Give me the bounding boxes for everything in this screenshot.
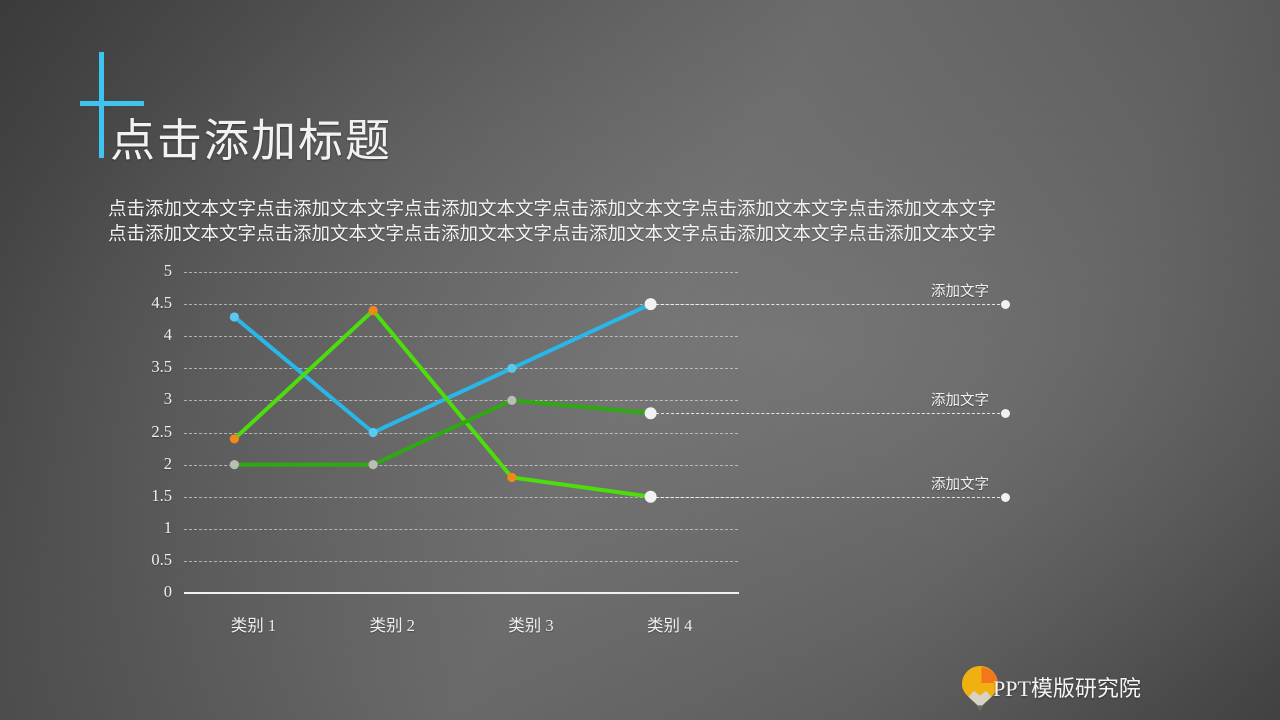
chart-callout-leader-line [651,304,1005,305]
chart-data-point [369,306,378,315]
chart-series-line-dark-green [234,400,650,464]
chart-series-line-cyan [234,304,650,432]
slide-canvas: 点击添加标题 点击添加文本文字点击添加文本文字点击添加文本文字点击添加文本文字点… [0,0,1280,720]
chart-callout-label[interactable]: 添加文字 [895,280,1025,301]
chart-callout-end-dot [1001,493,1010,502]
chart-data-point [230,312,239,321]
chart-plot-area [0,0,1280,720]
brand-logo: PPT模版研究院 [957,662,1187,712]
brand-logo-name: PPT模版研究院 [993,671,1141,703]
chart-callout-leader-line [651,413,1005,414]
chart-callout-label[interactable]: 添加文字 [895,473,1025,494]
chart-data-point [507,473,516,482]
chart-series-line-lime-green [234,311,650,497]
chart-callout-label[interactable]: 添加文字 [895,389,1025,410]
chart-data-point [507,396,516,405]
chart-data-point [230,460,239,469]
chart-callout-leader-line [651,497,1005,498]
chart-data-point [369,460,378,469]
chart-data-point [369,428,378,437]
line-chart: 00.511.522.533.544.55 类别 1类别 2类别 3类别 4 添… [0,0,1280,720]
chart-data-point [230,434,239,443]
chart-data-point [507,364,516,373]
